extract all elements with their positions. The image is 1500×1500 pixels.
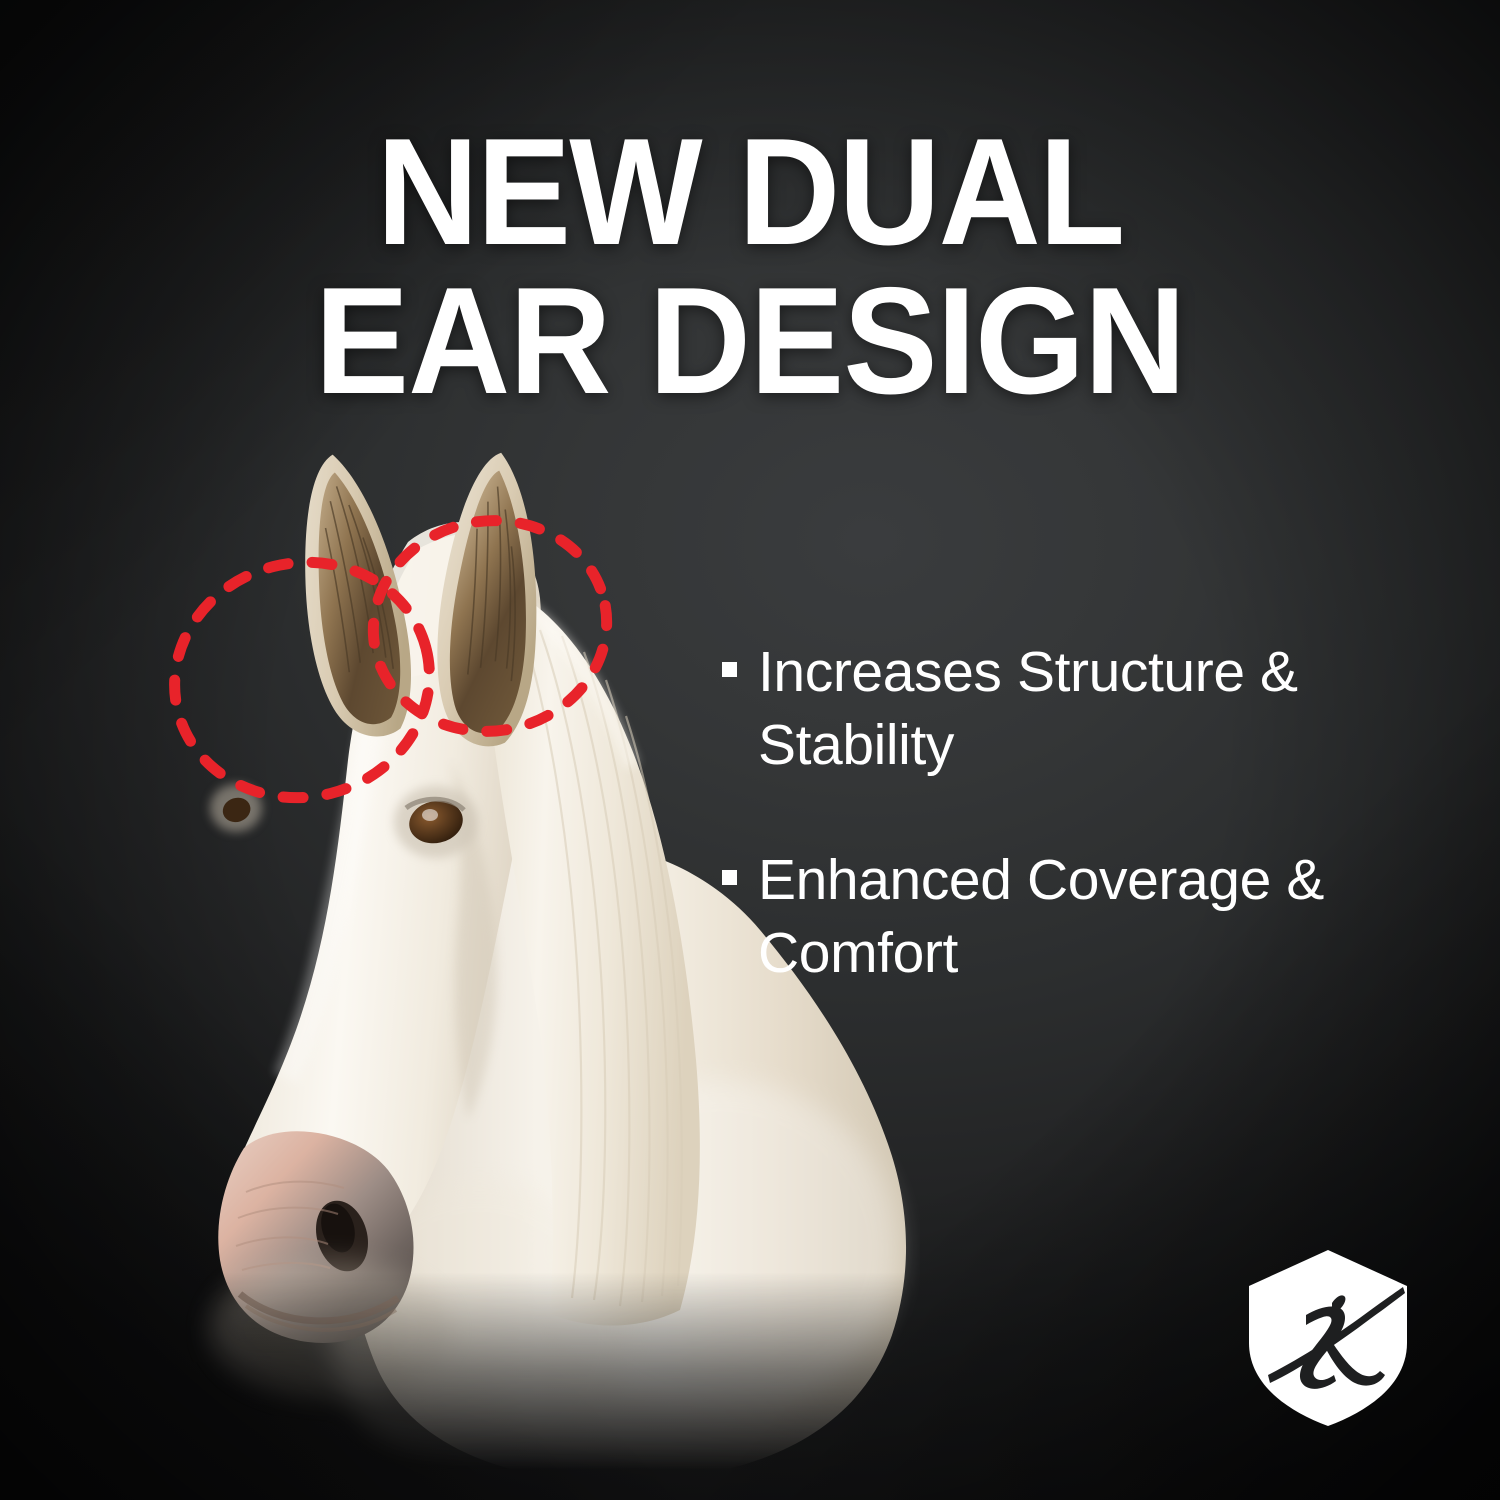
list-item: Enhanced Coverage & Comfort bbox=[722, 844, 1422, 990]
headline-line-2: EAR DESIGN bbox=[53, 267, 1448, 416]
list-item: Increases Structure & Stability bbox=[722, 636, 1422, 782]
feature-text: Enhanced Coverage & Comfort bbox=[758, 844, 1398, 990]
product-feature-banner: NEW DUAL EAR DESIGN bbox=[0, 0, 1500, 1500]
feature-text: Increases Structure & Stability bbox=[758, 636, 1398, 782]
square-bullet-icon bbox=[722, 870, 737, 885]
square-bullet-icon bbox=[722, 662, 737, 677]
headline: NEW DUAL EAR DESIGN bbox=[53, 118, 1448, 416]
brand-logo bbox=[1244, 1247, 1412, 1429]
feature-list: Increases Structure & Stability Enhanced… bbox=[722, 636, 1422, 1052]
headline-line-1: NEW DUAL bbox=[53, 118, 1448, 267]
